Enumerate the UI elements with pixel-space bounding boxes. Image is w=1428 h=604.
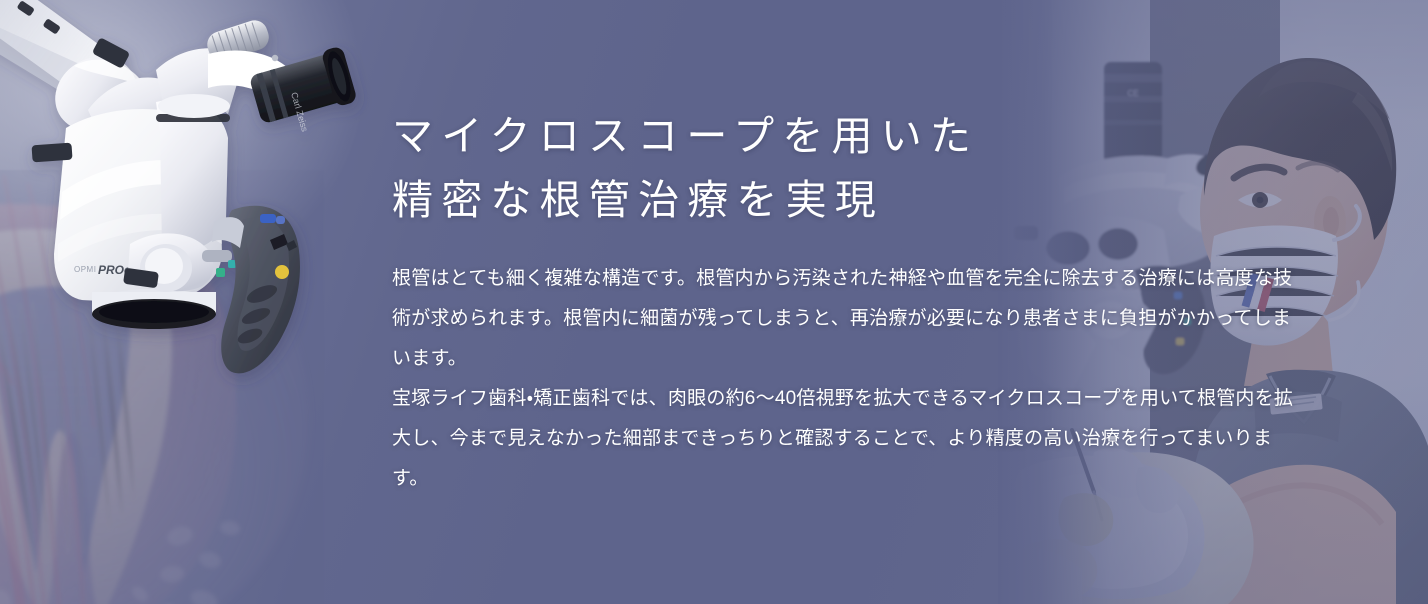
description-paragraph-1: 根管はとても細く複雑な構造です。根管内から汚染された神経や血管を完全に除去する治… bbox=[392, 259, 1307, 379]
hero-description: 根管はとても細く複雑な構造です。根管内から汚染された神経や血管を完全に除去する治… bbox=[392, 259, 1307, 499]
svg-text:OPMI: OPMI bbox=[74, 265, 96, 274]
hero-content: マイクロスコープを用いた 精密な根管治療を実現 根管はとても細く複雑な構造です。… bbox=[392, 104, 1307, 499]
hero-section: Carl Zeiss OPMI PROergo bbox=[0, 0, 1428, 604]
page-title: マイクロスコープを用いた 精密な根管治療を実現 bbox=[392, 104, 1307, 232]
description-paragraph-2: 宝塚ライフ歯科・矯正歯科では、肉眼の約6〜40倍視野を拡大できるマイクロスコープ… bbox=[392, 379, 1307, 499]
headline-line-1: マイクロスコープを用いた bbox=[392, 104, 1307, 168]
microscope-image: Carl Zeiss OPMI PROergo bbox=[0, 0, 390, 402]
headline-line-2: 精密な根管治療を実現 bbox=[392, 168, 1307, 232]
